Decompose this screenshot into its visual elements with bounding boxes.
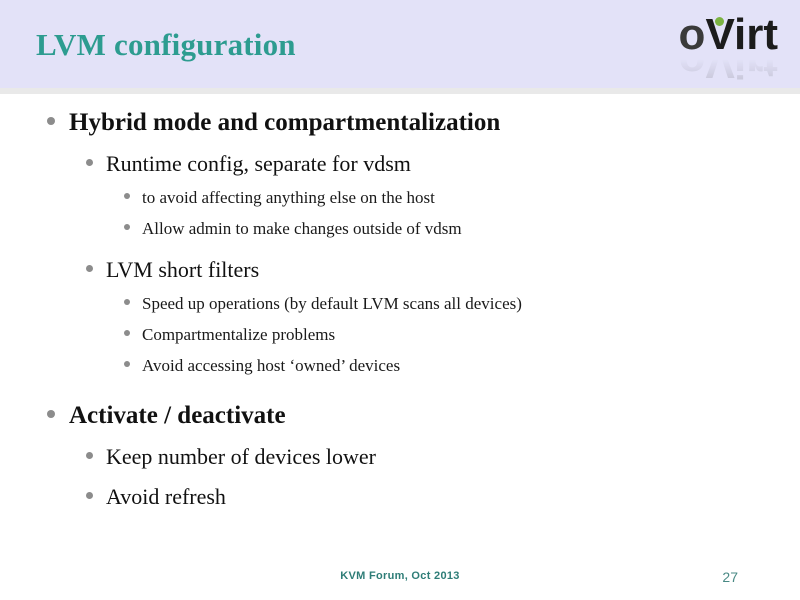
bullet-marker-icon (86, 159, 93, 166)
bullet-text: Speed up operations (by default LVM scan… (142, 291, 800, 316)
bullet-item-level3: Allow admin to make changes outside of v… (0, 216, 800, 241)
slide-number: 27 (722, 569, 738, 585)
bullet-text: Keep number of devices lower (106, 442, 800, 472)
bullet-item-level2: Runtime config, separate for vdsm (0, 149, 800, 179)
bullet-text: Compartmentalize problems (142, 322, 800, 347)
bullet-item-level3: Compartmentalize problems (0, 322, 800, 347)
bullet-marker-icon (124, 299, 130, 305)
slide-footer: KVM Forum, Oct 2013 27 (0, 560, 800, 600)
bullet-item-level1: Hybrid mode and compartmentalization (0, 106, 800, 139)
spacer (0, 378, 800, 387)
ovirt-logo-wordmark: oVirt (648, 12, 778, 58)
ovirt-logo-reflection: oVirt (648, 59, 778, 85)
bullet-marker-icon (86, 492, 93, 499)
bullet-text: Allow admin to make changes outside of v… (142, 216, 800, 241)
bullet-item-level2: LVM short filters (0, 255, 800, 285)
bullet-item-level3: to avoid affecting anything else on the … (0, 185, 800, 210)
slide-body: Hybrid mode and compartmentalization Run… (0, 94, 800, 546)
bullet-item-level1: Activate / deactivate (0, 399, 800, 432)
bullet-text: Avoid refresh (106, 482, 800, 512)
page-title: LVM configuration (36, 26, 296, 64)
bullet-text: Hybrid mode and compartmentalization (69, 106, 800, 139)
bullet-item-level2: Avoid refresh (0, 482, 800, 512)
ovirt-logo-text-pre: o (679, 10, 706, 59)
bullet-marker-icon (47, 117, 55, 125)
bullet-marker-icon (124, 224, 130, 230)
bullet-marker-icon (124, 193, 130, 199)
bullet-item-level3: Speed up operations (by default LVM scan… (0, 291, 800, 316)
bullet-text: to avoid affecting anything else on the … (142, 185, 800, 210)
bullet-text: Avoid accessing host ‘owned’ devices (142, 353, 800, 378)
bullet-marker-icon (47, 410, 55, 418)
bullet-text: Activate / deactivate (69, 399, 800, 432)
bullet-text: Runtime config, separate for vdsm (106, 149, 800, 179)
bullet-marker-icon (86, 452, 93, 459)
ovirt-logo: oVirt oVirt (648, 12, 778, 90)
green-dot-icon (715, 17, 724, 26)
spacer (0, 241, 800, 245)
bullet-text: LVM short filters (106, 255, 800, 285)
footer-conference-label: KVM Forum, Oct 2013 (0, 570, 800, 582)
bullet-marker-icon (86, 265, 93, 272)
bullet-item-level3: Avoid accessing host ‘owned’ devices (0, 353, 800, 378)
bullet-marker-icon (124, 330, 130, 336)
bullet-marker-icon (124, 361, 130, 367)
bullet-item-level2: Keep number of devices lower (0, 442, 800, 472)
